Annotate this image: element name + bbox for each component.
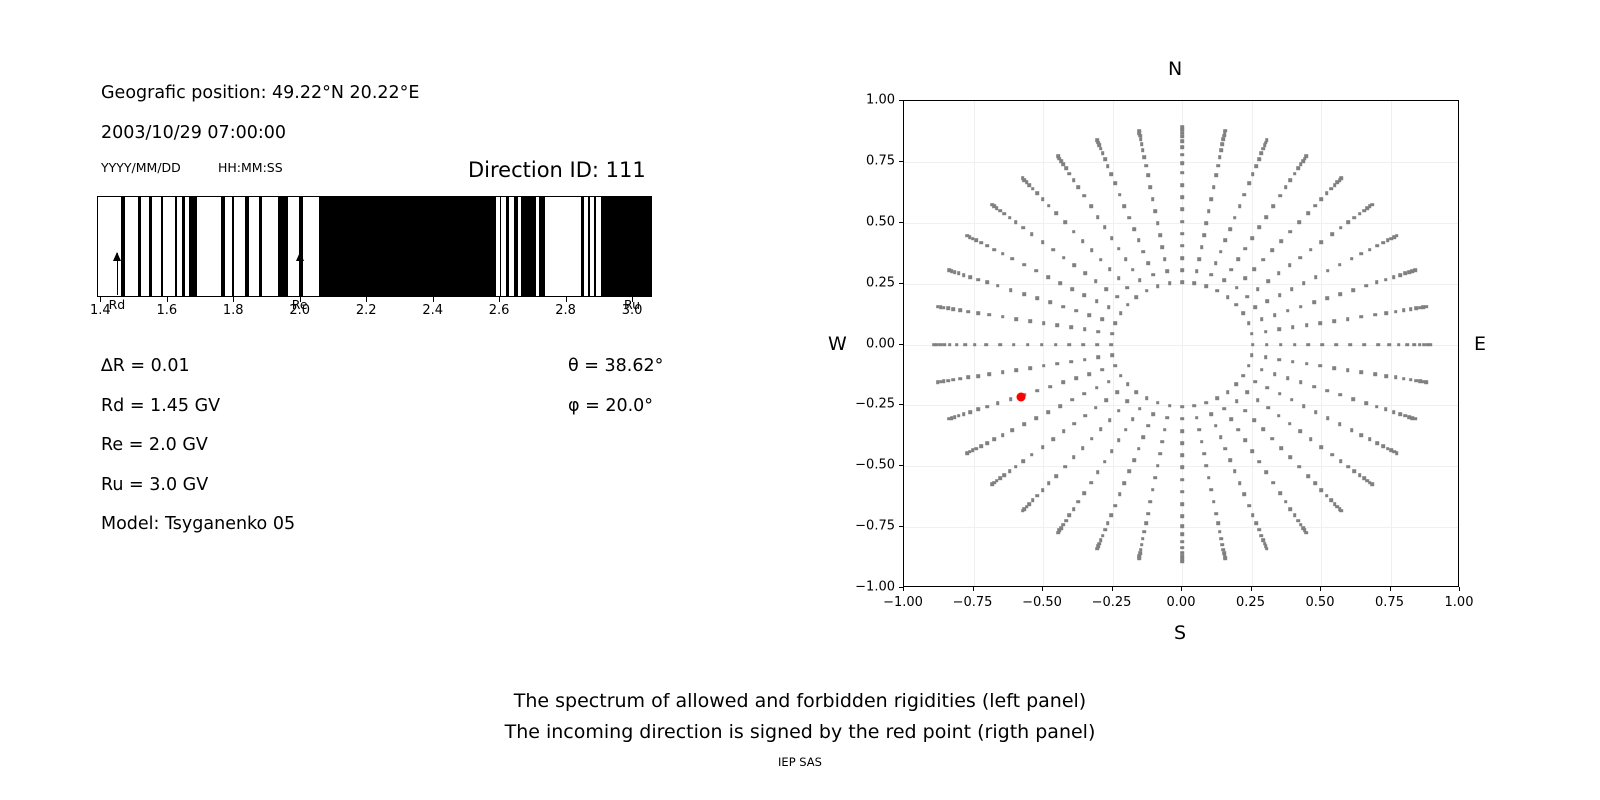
direction-point [1145, 289, 1149, 293]
direction-point [1286, 309, 1290, 313]
x-axis-tick [1181, 587, 1182, 591]
direction-point [1009, 288, 1013, 292]
direction-point [1387, 343, 1391, 347]
direction-point [1117, 439, 1121, 443]
direction-point [1230, 418, 1234, 422]
direction-point [1180, 533, 1184, 537]
direction-point [1001, 433, 1005, 437]
direction-point [1119, 374, 1123, 378]
direction-point [1124, 428, 1128, 432]
direction-point [1108, 267, 1112, 271]
direction-point [1180, 417, 1184, 421]
direction-point [1364, 401, 1368, 405]
polar-scatter-plot [903, 100, 1459, 587]
direction-point [1068, 514, 1072, 518]
direction-point [1012, 343, 1016, 347]
direction-point [1023, 422, 1027, 426]
direction-point [976, 311, 980, 315]
forbidden-band [500, 197, 502, 296]
direction-point [1195, 270, 1199, 274]
direction-point [1346, 317, 1350, 321]
direction-point [1368, 438, 1372, 442]
direction-point [1180, 514, 1184, 518]
direction-point [1321, 343, 1325, 347]
direction-point [1254, 521, 1258, 525]
direction-point [1197, 258, 1201, 262]
direction-point [1008, 216, 1012, 220]
direction-point [1330, 232, 1334, 236]
direction-point [1180, 441, 1184, 445]
direction-point [1099, 258, 1103, 262]
direction-point [1351, 288, 1355, 292]
direction-point [1384, 408, 1388, 412]
direction-point [1332, 366, 1336, 370]
axis-tick [566, 297, 567, 302]
y-axis-tick [899, 283, 903, 284]
direction-point [1218, 156, 1222, 160]
direction-point [1180, 546, 1184, 550]
direction-point [1028, 319, 1032, 323]
direction-point [1047, 204, 1051, 208]
direction-point [1325, 192, 1329, 196]
direction-point [1375, 405, 1379, 409]
direction-point [1395, 451, 1399, 455]
direction-point [1054, 343, 1058, 347]
y-axis-tick [899, 222, 903, 223]
direction-point [1266, 406, 1270, 410]
direction-point [1041, 488, 1045, 492]
direction-point [1040, 343, 1044, 347]
direction-point [1353, 469, 1357, 473]
direction-point [979, 444, 983, 448]
direction-point [974, 447, 978, 451]
direction-point [1041, 197, 1045, 201]
direction-point [990, 482, 994, 486]
direction-point [1158, 452, 1162, 456]
direction-point [1273, 313, 1277, 317]
direction-point [1238, 204, 1242, 208]
direction-point [1242, 374, 1246, 378]
y-axis-tick-label: 0.25 [835, 275, 895, 290]
direction-point [1047, 482, 1051, 486]
footer-note: IEP SAS [0, 755, 1600, 769]
direction-point [1286, 376, 1290, 380]
direction-point [1293, 172, 1297, 176]
direction-point [1289, 507, 1293, 511]
direction-point [1142, 250, 1146, 254]
geographic-position-text: Geografic position: 49.22°N 20.22°E [101, 83, 419, 103]
forbidden-band [278, 197, 288, 296]
direction-point [1266, 299, 1270, 303]
direction-point [1068, 172, 1072, 176]
direction-point [1312, 385, 1316, 389]
direction-point [1235, 383, 1239, 387]
direction-point [1370, 203, 1374, 207]
direction-point [1097, 330, 1101, 334]
direction-point [1304, 531, 1308, 535]
direction-point [1277, 414, 1281, 418]
direction-point [1373, 313, 1377, 317]
direction-point [1338, 393, 1342, 397]
direction-point [942, 306, 946, 310]
direction-point [1247, 364, 1251, 368]
direction-point [998, 477, 1002, 481]
caption-line-1: The spectrum of allowed and forbidden ri… [0, 686, 1600, 717]
direction-point [1288, 456, 1292, 460]
direction-point [1193, 404, 1197, 408]
direction-point [1083, 414, 1087, 418]
direction-point [1087, 313, 1091, 317]
direction-point [953, 270, 957, 274]
direction-point [1314, 410, 1318, 414]
direction-point [962, 412, 966, 416]
direction-point [1180, 161, 1184, 165]
direction-point [1099, 428, 1103, 432]
direction-point [952, 307, 956, 311]
direction-point [1202, 452, 1206, 456]
forbidden-band [138, 197, 141, 296]
direction-point [1028, 366, 1032, 370]
direction-point [1204, 401, 1208, 405]
direction-point [1069, 326, 1073, 330]
direction-point [984, 343, 988, 347]
direction-point [1094, 279, 1098, 283]
direction-point [1001, 252, 1005, 256]
direction-point [1165, 270, 1169, 274]
direction-point [1114, 321, 1118, 325]
direction-point [1279, 239, 1283, 243]
direction-point [1277, 328, 1281, 332]
direction-point [1180, 145, 1184, 149]
direction-point [1069, 360, 1073, 364]
direction-point [1226, 390, 1230, 394]
direction-point [1233, 216, 1237, 220]
param-ru: Ru = 3.0 GV [101, 475, 208, 495]
direction-point [1026, 343, 1030, 347]
direction-point [1277, 358, 1281, 362]
direction-point [1156, 222, 1160, 226]
direction-point [1398, 412, 1402, 416]
direction-point [1073, 422, 1077, 426]
direction-point [1105, 398, 1109, 402]
direction-point [1138, 278, 1142, 282]
x-axis-tick [1390, 587, 1391, 591]
direction-point [1245, 295, 1249, 299]
direction-point [1207, 210, 1211, 214]
axis-tick-label: 2.2 [356, 303, 377, 318]
direction-point [1168, 404, 1172, 408]
direction-point [1293, 514, 1297, 518]
direction-point [943, 343, 947, 347]
direction-point [1126, 383, 1130, 387]
direction-point [1051, 248, 1055, 252]
y-axis-tick [899, 465, 903, 466]
direction-point [1180, 560, 1184, 564]
direction-point [1266, 386, 1270, 390]
direction-point [1277, 271, 1281, 275]
forbidden-band [259, 197, 262, 296]
forbidden-band [521, 197, 536, 296]
direction-point [1117, 247, 1121, 251]
direction-point [1296, 519, 1300, 523]
direction-point [1056, 531, 1060, 535]
direction-point [1123, 204, 1127, 208]
direction-point [1180, 232, 1184, 236]
direction-point [1140, 543, 1144, 547]
compass-east-label: E [1474, 333, 1486, 355]
direction-point [1223, 557, 1227, 561]
direction-point [1219, 435, 1223, 439]
direction-point [1163, 258, 1167, 262]
direction-point [1090, 249, 1094, 253]
direction-point [969, 410, 973, 414]
direction-point [1338, 263, 1342, 267]
direction-point [1236, 428, 1240, 432]
direction-point [996, 284, 1000, 288]
direction-point [1384, 278, 1388, 282]
param-model: Model: Tsyganenko 05 [101, 514, 295, 534]
direction-point [1265, 547, 1269, 551]
direction-point [1221, 543, 1225, 547]
marker-label: Ru [624, 297, 640, 312]
direction-point [1402, 308, 1406, 312]
direction-point [1346, 465, 1350, 469]
direction-point [1318, 321, 1322, 325]
x-axis-tick [903, 587, 904, 591]
direction-point [1216, 396, 1220, 400]
direction-point [1139, 138, 1143, 142]
direction-point [1325, 389, 1329, 393]
direction-point [998, 343, 1002, 347]
direction-point [1096, 215, 1100, 219]
direction-point [963, 343, 967, 347]
direction-point [1087, 372, 1091, 376]
direction-point [1223, 239, 1227, 243]
direction-point [1264, 470, 1268, 474]
direction-point [1350, 257, 1354, 261]
direction-point [1291, 326, 1295, 330]
forbidden-band [182, 197, 185, 296]
x-axis-tick [973, 587, 974, 591]
direction-point [1042, 364, 1046, 368]
y-axis-tick-label: −0.50 [835, 458, 895, 473]
direction-point [1180, 208, 1184, 212]
direction-point [1103, 528, 1107, 532]
datetime-text: 2003/10/29 07:00:00 [101, 123, 286, 143]
x-axis-tick [1251, 587, 1252, 591]
direction-point [1428, 343, 1432, 347]
direction-point [1250, 332, 1254, 336]
direction-point [1115, 390, 1119, 394]
x-axis-tick [1459, 587, 1460, 591]
direction-point [1223, 278, 1227, 282]
direction-point [947, 417, 951, 421]
direction-point [1257, 157, 1261, 161]
direction-point [1156, 464, 1160, 468]
direction-point [976, 408, 980, 412]
direction-point [1296, 167, 1300, 171]
direction-point [1142, 435, 1146, 439]
forbidden-band [319, 197, 497, 296]
direction-point [1108, 418, 1112, 422]
direction-point [1137, 239, 1141, 243]
direction-point [1135, 295, 1139, 299]
direction-point [1223, 447, 1227, 451]
direction-point [1219, 148, 1223, 152]
direction-point [1059, 281, 1063, 285]
direction-point [1278, 491, 1282, 495]
direction-point [1279, 446, 1283, 450]
direction-point [1151, 488, 1155, 492]
direction-point [1195, 416, 1199, 420]
direction-point [1180, 153, 1184, 157]
direction-point [1330, 453, 1334, 457]
direction-point [990, 203, 994, 207]
direction-point [1418, 343, 1422, 347]
direction-point [1332, 319, 1336, 323]
forbidden-band [175, 197, 177, 296]
direction-point [1077, 186, 1081, 190]
direction-point [1214, 174, 1218, 178]
direction-point [1320, 240, 1324, 244]
x-axis-tick-label: −0.75 [953, 595, 993, 610]
direction-point [1200, 440, 1204, 444]
direction-point [1117, 409, 1121, 413]
direction-point [1071, 398, 1075, 402]
direction-point [992, 248, 996, 252]
direction-point [1394, 376, 1398, 380]
direction-point [1405, 343, 1409, 347]
direction-point [1290, 398, 1294, 402]
direction-point [1126, 303, 1130, 307]
forbidden-band [189, 197, 197, 296]
direction-point [1161, 440, 1165, 444]
direction-point [1149, 186, 1153, 190]
direction-point [1228, 458, 1232, 462]
direction-point [1008, 469, 1012, 473]
direction-point [1113, 181, 1117, 185]
direction-point [1326, 269, 1330, 273]
direction-point [1061, 305, 1065, 309]
direction-point [1064, 519, 1068, 523]
direction-point [1360, 252, 1364, 256]
direction-point [1146, 174, 1150, 178]
direction-point [1339, 459, 1343, 463]
forbidden-band [601, 197, 652, 296]
direction-point [1214, 424, 1218, 428]
direction-point [1158, 234, 1162, 238]
direction-point [1307, 343, 1311, 347]
direction-point [996, 401, 1000, 405]
direction-point [1146, 261, 1150, 265]
x-axis-tick-label: 0.25 [1236, 595, 1265, 610]
direction-point [1056, 362, 1060, 366]
direction-point [1320, 197, 1324, 201]
direction-point [1126, 286, 1130, 290]
direction-point [1193, 282, 1197, 286]
direction-point [1288, 230, 1292, 234]
direction-point [1163, 428, 1167, 432]
direction-point [1156, 284, 1160, 288]
direction-point [1305, 323, 1309, 327]
direction-point [1063, 465, 1067, 469]
direction-point [1314, 275, 1318, 279]
direction-point [1089, 205, 1093, 209]
direction-point [1309, 248, 1313, 252]
y-axis-tick-label: −0.75 [835, 519, 895, 534]
direction-point [1278, 293, 1282, 297]
direction-point [1362, 343, 1366, 347]
forbidden-band [232, 197, 234, 296]
direction-point [1228, 227, 1232, 231]
direction-point [992, 438, 996, 442]
direction-point [948, 343, 952, 347]
direction-point [1180, 429, 1184, 433]
direction-point [1107, 380, 1111, 384]
direction-point [1262, 258, 1266, 262]
compass-south-label: S [1174, 622, 1186, 644]
direction-point [1180, 453, 1184, 457]
direction-point [987, 373, 991, 377]
direction-point [1305, 362, 1309, 366]
axis-tick-label: 1.6 [156, 303, 177, 318]
direction-point [1001, 370, 1005, 374]
direction-point [1265, 343, 1269, 347]
direction-point [1256, 398, 1260, 402]
direction-point [1081, 446, 1085, 450]
direction-point [1063, 221, 1067, 225]
rigidity-spectrum-bar [97, 196, 652, 297]
direction-point [1031, 498, 1035, 502]
direction-point [1413, 268, 1417, 272]
direction-point [1312, 301, 1316, 305]
direction-point [1346, 368, 1350, 372]
direction-point [1145, 396, 1149, 400]
direction-point [957, 414, 961, 418]
direction-point [1297, 465, 1301, 469]
direction-point [1299, 162, 1303, 166]
direction-point [1230, 268, 1234, 272]
direction-point [1381, 444, 1385, 448]
direction-point [1002, 473, 1006, 477]
param-theta: θ = 38.62° [568, 356, 663, 376]
direction-point [1083, 293, 1087, 297]
direction-point [1082, 194, 1086, 198]
direction-point [1262, 428, 1266, 432]
x-axis-tick [1112, 587, 1113, 591]
direction-point [1137, 129, 1141, 133]
direction-point [1035, 192, 1039, 196]
direction-point [1035, 296, 1039, 300]
direction-point [947, 268, 951, 272]
direction-point [1113, 504, 1117, 508]
direction-point [1251, 343, 1255, 347]
direction-point [1180, 244, 1184, 248]
direction-point [1097, 356, 1101, 360]
direction-point [1118, 193, 1122, 197]
direction-point [1302, 281, 1306, 285]
direction-point [1180, 466, 1184, 470]
axis-tick [433, 297, 434, 302]
direction-point [1412, 343, 1416, 347]
direction-point [1180, 183, 1184, 187]
direction-point [1424, 380, 1428, 384]
direction-point [1243, 247, 1247, 251]
direction-point [979, 241, 983, 245]
forbidden-band [221, 197, 225, 296]
direction-point [955, 343, 959, 347]
direction-point [1219, 250, 1223, 254]
